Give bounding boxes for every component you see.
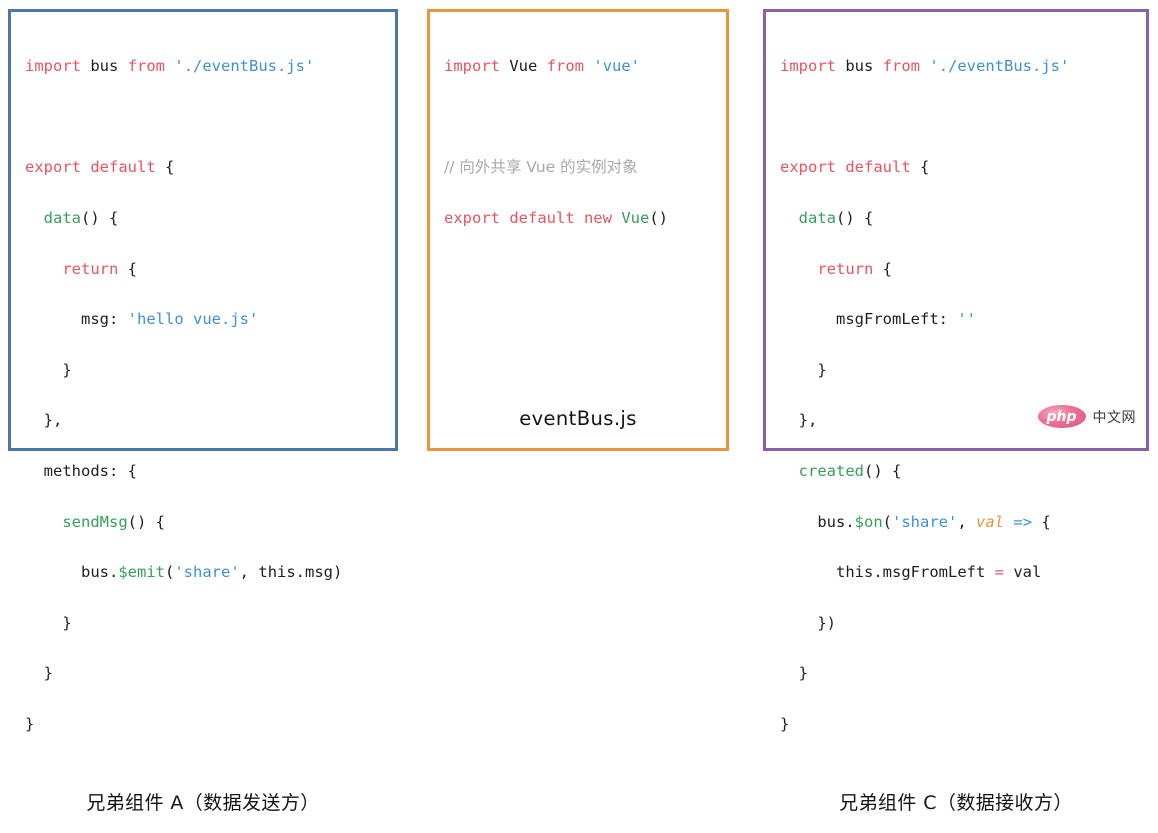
code-line: } <box>780 661 1146 686</box>
code-line: export default { <box>780 155 1146 180</box>
code-line: } <box>25 712 395 737</box>
code-line: bus.$emit('share', this.msg) <box>25 560 395 585</box>
code-line: msgFromLeft: '' <box>780 307 1146 332</box>
code-line: } <box>25 661 395 686</box>
code-line: this.msgFromLeft = val <box>780 560 1146 585</box>
code-line: } <box>25 611 395 636</box>
code-line <box>444 105 726 130</box>
code-line: msg: 'hello vue.js' <box>25 307 395 332</box>
code-line: created() { <box>780 459 1146 484</box>
code-line: methods: { <box>25 459 395 484</box>
code-line: } <box>780 712 1146 737</box>
panel-a-caption: 兄弟组件 A（数据发送方） <box>11 788 395 833</box>
code-line: } <box>780 358 1146 383</box>
diagram-board: import bus from './eventBus.js' export d… <box>0 0 1158 459</box>
code-line: return { <box>25 257 395 282</box>
code-line: export default { <box>25 155 395 180</box>
code-line: import bus from './eventBus.js' <box>780 54 1146 79</box>
panel-event-bus: import Vue from 'vue' // 向外共享 Vue 的实例对象 … <box>427 9 729 451</box>
code-line: data() { <box>780 206 1146 231</box>
panel-c-caption: 兄弟组件 C（数据接收方） <box>766 788 1146 833</box>
panel-b-caption: eventBus.js <box>430 407 726 448</box>
panel-component-a: import bus from './eventBus.js' export d… <box>8 9 398 451</box>
code-line: }, <box>25 408 395 433</box>
code-block-component-c: import bus from './eventBus.js' export d… <box>766 12 1146 788</box>
code-line: import bus from './eventBus.js' <box>25 54 395 79</box>
code-line: bus.$on('share', val => { <box>780 510 1146 535</box>
code-line: export default new Vue() <box>444 206 726 231</box>
code-line: }) <box>780 611 1146 636</box>
code-line: import Vue from 'vue' <box>444 54 726 79</box>
code-line <box>780 105 1146 130</box>
code-block-event-bus: import Vue from 'vue' // 向外共享 Vue 的实例对象 … <box>430 12 726 407</box>
code-line: } <box>25 358 395 383</box>
panel-component-c: import bus from './eventBus.js' export d… <box>763 9 1149 451</box>
code-line: sendMsg() { <box>25 510 395 535</box>
code-line <box>25 105 395 130</box>
code-line: }, <box>780 408 1146 433</box>
code-line: // 向外共享 Vue 的实例对象 <box>444 155 726 180</box>
code-block-component-a: import bus from './eventBus.js' export d… <box>11 12 395 788</box>
code-line: data() { <box>25 206 395 231</box>
code-line: return { <box>780 257 1146 282</box>
